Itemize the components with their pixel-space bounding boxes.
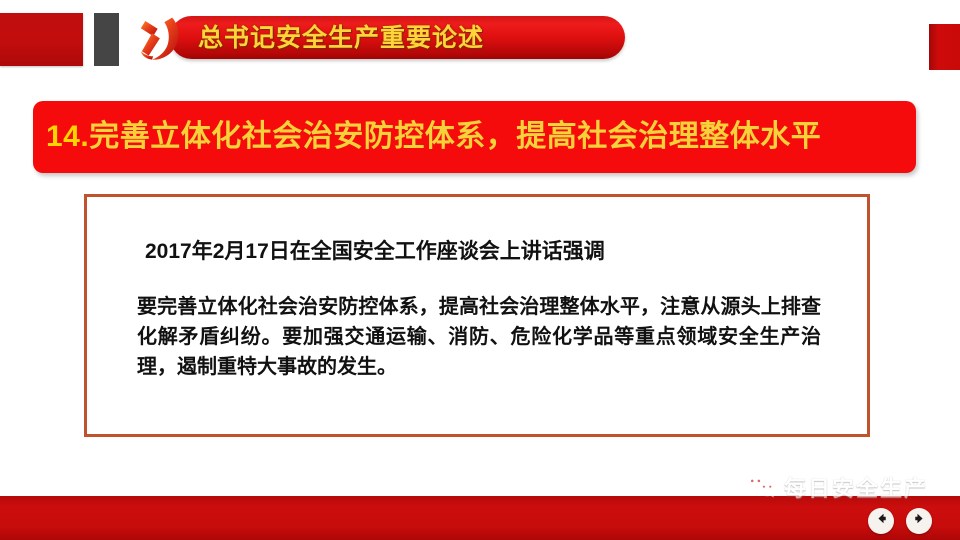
- header-banner-title: 总书记安全生产重要论述: [198, 20, 484, 56]
- next-slide-button[interactable]: [906, 508, 932, 534]
- header-decoration-red-right: [929, 24, 960, 70]
- content-body: 要完善立体化社会治安防控体系，提高社会治理整体水平，注意从源头上排查化解矛盾纠纷…: [137, 292, 821, 382]
- header-decoration-red-left: [0, 13, 83, 66]
- arrow-left-icon: [875, 512, 888, 530]
- prev-slide-button[interactable]: [868, 508, 894, 534]
- page-title: 14.完善立体化社会治安防控体系，提高社会治理整体水平: [46, 112, 906, 162]
- page-title-label: 完善立体化社会治安防控体系，提高社会治理整体水平: [89, 120, 821, 153]
- arrow-right-icon: [913, 512, 926, 530]
- footer-band: [0, 496, 960, 540]
- content-heading: 2017年2月17日在全国安全工作座谈会上讲话强调: [145, 235, 605, 265]
- party-hammer-sickle-emblem-icon: [133, 12, 189, 68]
- slide-navigation: [868, 508, 946, 534]
- header-decoration-gray: [94, 13, 119, 66]
- slide-canvas: 总书记安全生产重要论述 14.完善立体化社会治安防控体系，提高社会治理整体水平 …: [0, 0, 960, 540]
- page-title-number: 14.: [46, 120, 89, 153]
